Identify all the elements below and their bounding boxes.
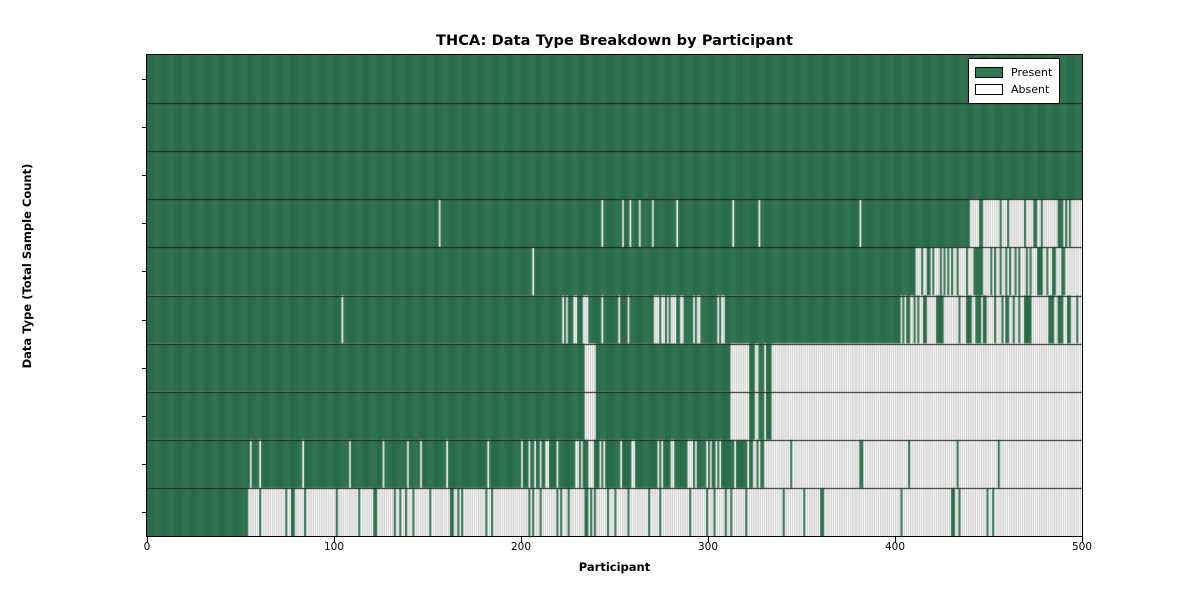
y-axis-title: Data Type (Total Sample Count) xyxy=(20,24,34,508)
x-axis-tick-label-300: 300 xyxy=(698,541,718,553)
x-axis-tick-mark xyxy=(521,537,522,542)
x-axis-tick-mark xyxy=(334,537,335,542)
page-title: THCA: Data Type Breakdown by Participant xyxy=(146,33,1083,49)
x-axis-tick-mark xyxy=(147,537,148,542)
legend-swatch-present xyxy=(975,67,1003,78)
heatmap-canvas xyxy=(147,55,1082,536)
chart-legend: Present Absent xyxy=(968,58,1060,104)
heatmap-plot-area[interactable] xyxy=(146,54,1083,537)
legend-label-present: Present xyxy=(1011,66,1052,79)
legend-swatch-absent xyxy=(975,84,1003,95)
x-axis-tick-label-500: 500 xyxy=(1072,541,1092,553)
x-axis-tick-mark xyxy=(1082,537,1083,542)
x-axis-tick-label-0: 0 xyxy=(144,541,151,553)
x-axis-tick-label-100: 100 xyxy=(324,541,344,553)
legend-label-absent: Absent xyxy=(1011,83,1049,96)
x-axis-tick-mark xyxy=(895,537,896,542)
legend-item-absent[interactable]: Absent xyxy=(975,81,1052,98)
x-axis-tick-label-200: 200 xyxy=(511,541,531,553)
figure-canvas: THCA: Data Type Breakdown by Participant… xyxy=(0,0,1200,600)
x-axis-tick-label-400: 400 xyxy=(885,541,905,553)
x-axis-title: Participant xyxy=(146,560,1083,574)
legend-item-present[interactable]: Present xyxy=(975,64,1052,81)
x-axis-tick-mark xyxy=(708,537,709,542)
